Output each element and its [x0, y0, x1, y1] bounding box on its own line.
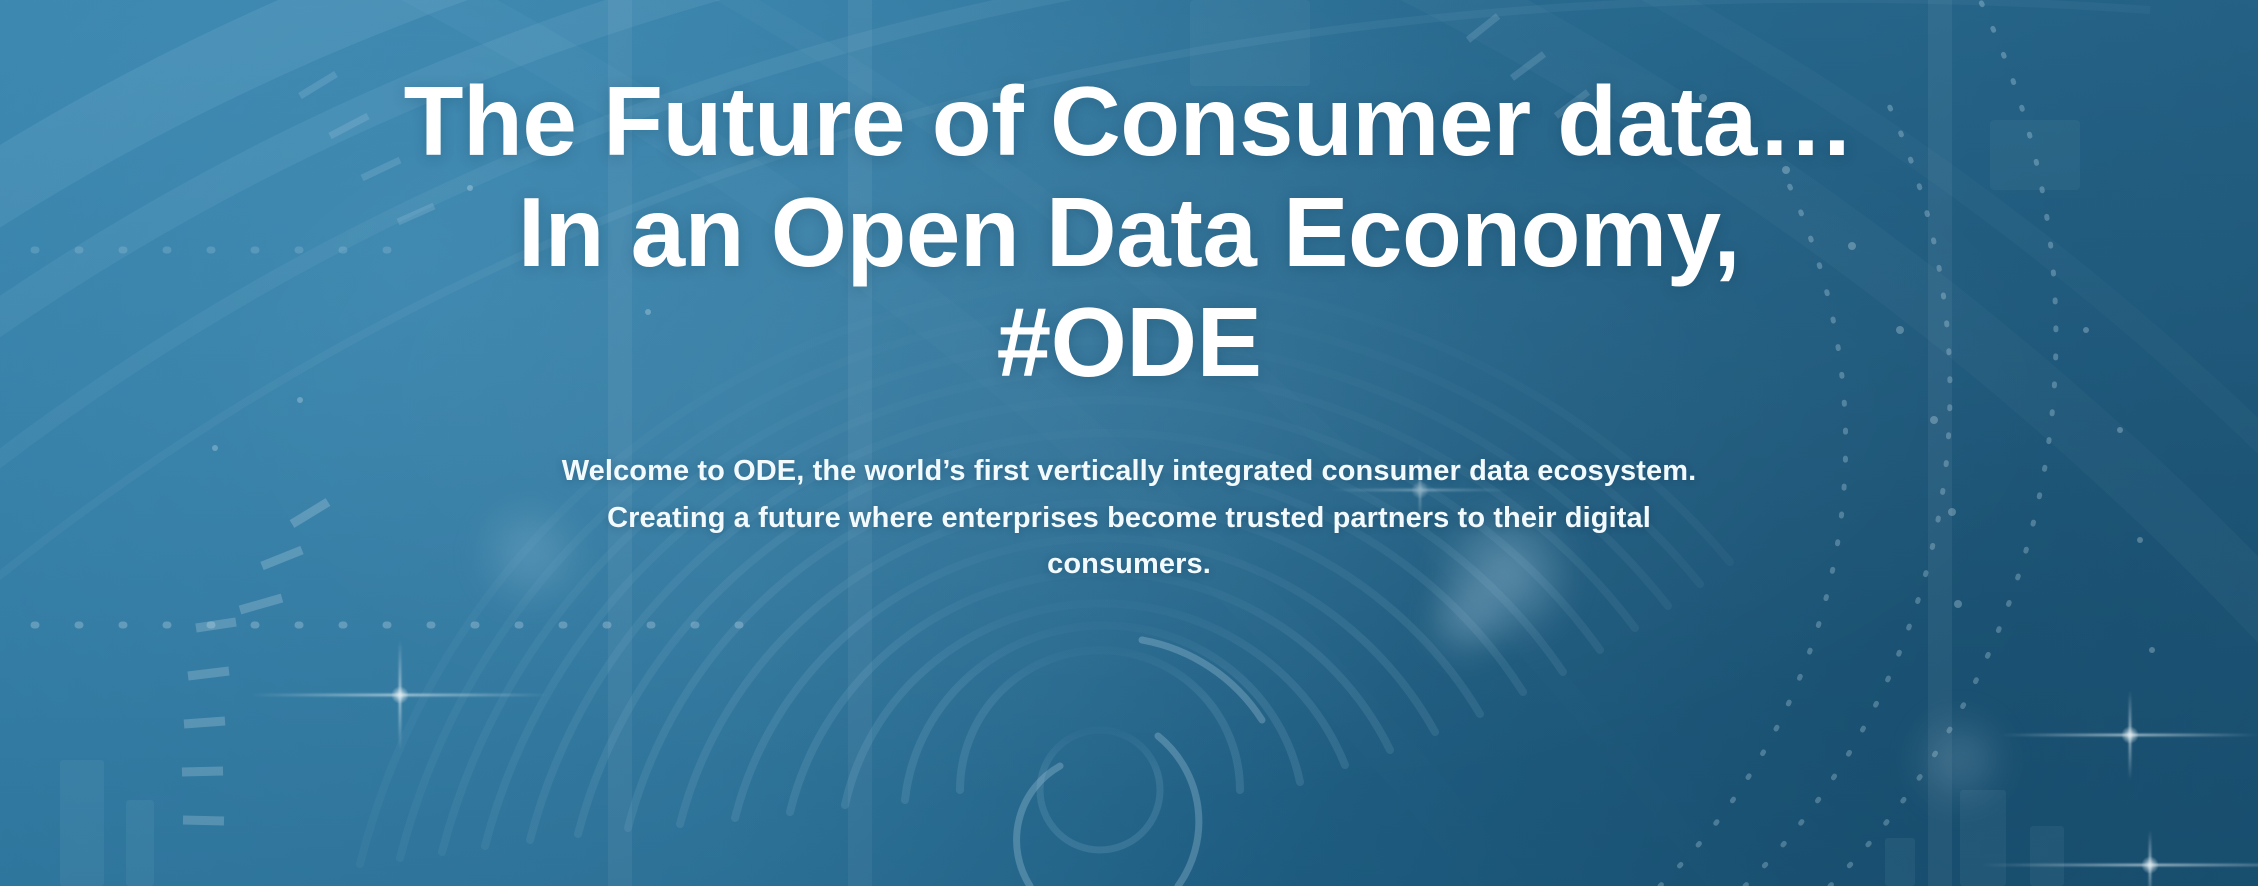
subtitle-line-2: Creating a future where enterprises beco…: [514, 495, 1744, 541]
hero-content: The Future of Consumer data… In an Open …: [0, 0, 2258, 886]
subtitle-line-1: Welcome to ODE, the world’s first vertic…: [514, 448, 1744, 494]
hero-subtitle: Welcome to ODE, the world’s first vertic…: [514, 448, 1744, 587]
headline-line-2: In an Open Data Economy,: [29, 177, 2229, 288]
headline-line-1: The Future of Consumer data…: [29, 66, 2229, 177]
headline-line-3-hashtag: #ODE: [29, 287, 2229, 398]
hero-headline: The Future of Consumer data… In an Open …: [29, 66, 2229, 398]
hero-banner: The Future of Consumer data… In an Open …: [0, 0, 2258, 886]
subtitle-line-3: consumers.: [514, 541, 1744, 587]
